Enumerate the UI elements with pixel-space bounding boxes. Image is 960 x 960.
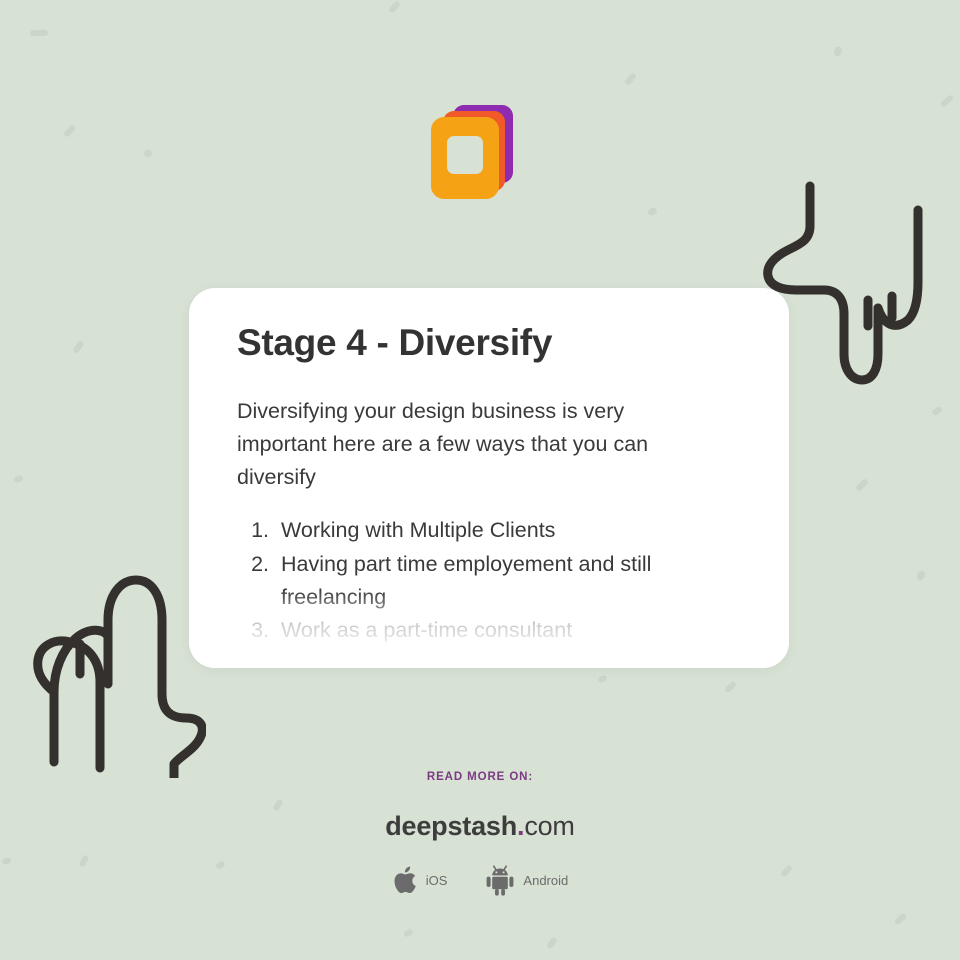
deepstash-wordmark[interactable]: deepstash.com: [0, 811, 960, 842]
confetti-dash: [72, 340, 85, 354]
ios-label: iOS: [426, 873, 448, 888]
ios-store-badge[interactable]: iOS: [392, 864, 448, 896]
app-store-badges: iOS: [0, 864, 960, 896]
android-store-badge[interactable]: Android: [485, 864, 568, 896]
read-more-label: READ MORE ON:: [0, 771, 960, 783]
wordmark-tld: com: [524, 811, 574, 841]
apple-icon: [392, 864, 418, 896]
confetti-dash: [647, 206, 658, 217]
content-card: Stage 4 - Diversify Diversifying your de…: [189, 288, 789, 668]
list-item: Having part time employement and still f…: [275, 548, 721, 615]
pointing-hand-bottom-left-icon: [28, 566, 206, 778]
deepstash-share-card: Stage 4 - Diversify Diversifying your de…: [0, 0, 960, 960]
card-content: Stage 4 - Diversify Diversifying your de…: [189, 288, 789, 648]
deepstash-logo-icon: [425, 98, 525, 204]
confetti-dash: [143, 149, 153, 158]
confetti-dash: [833, 46, 843, 58]
card-list: Working with Multiple Clients Having par…: [237, 514, 743, 647]
confetti-dash: [624, 72, 637, 86]
confetti-dash: [272, 798, 283, 811]
wordmark-name: deepstash: [385, 811, 517, 841]
confetti-dash: [403, 928, 414, 937]
confetti-dash: [724, 680, 737, 694]
android-label: Android: [523, 873, 568, 888]
confetti-dash: [546, 936, 558, 949]
confetti-dash: [894, 912, 908, 925]
list-item: Work as a part-time consultant: [275, 614, 721, 647]
confetti-dash: [388, 0, 401, 14]
list-item: Working with Multiple Clients: [275, 514, 721, 547]
card-title: Stage 4 - Diversify: [237, 322, 743, 365]
confetti-dash: [931, 406, 943, 417]
card-body-text: Diversifying your design business is ver…: [237, 395, 707, 495]
confetti-dash: [940, 94, 954, 108]
confetti-dash: [855, 478, 869, 492]
confetti-dash: [916, 569, 927, 581]
confetti-dash: [30, 30, 48, 37]
confetti-dash: [63, 124, 76, 138]
confetti-dash: [13, 475, 23, 483]
confetti-dash: [597, 674, 608, 683]
android-icon: [485, 864, 515, 896]
